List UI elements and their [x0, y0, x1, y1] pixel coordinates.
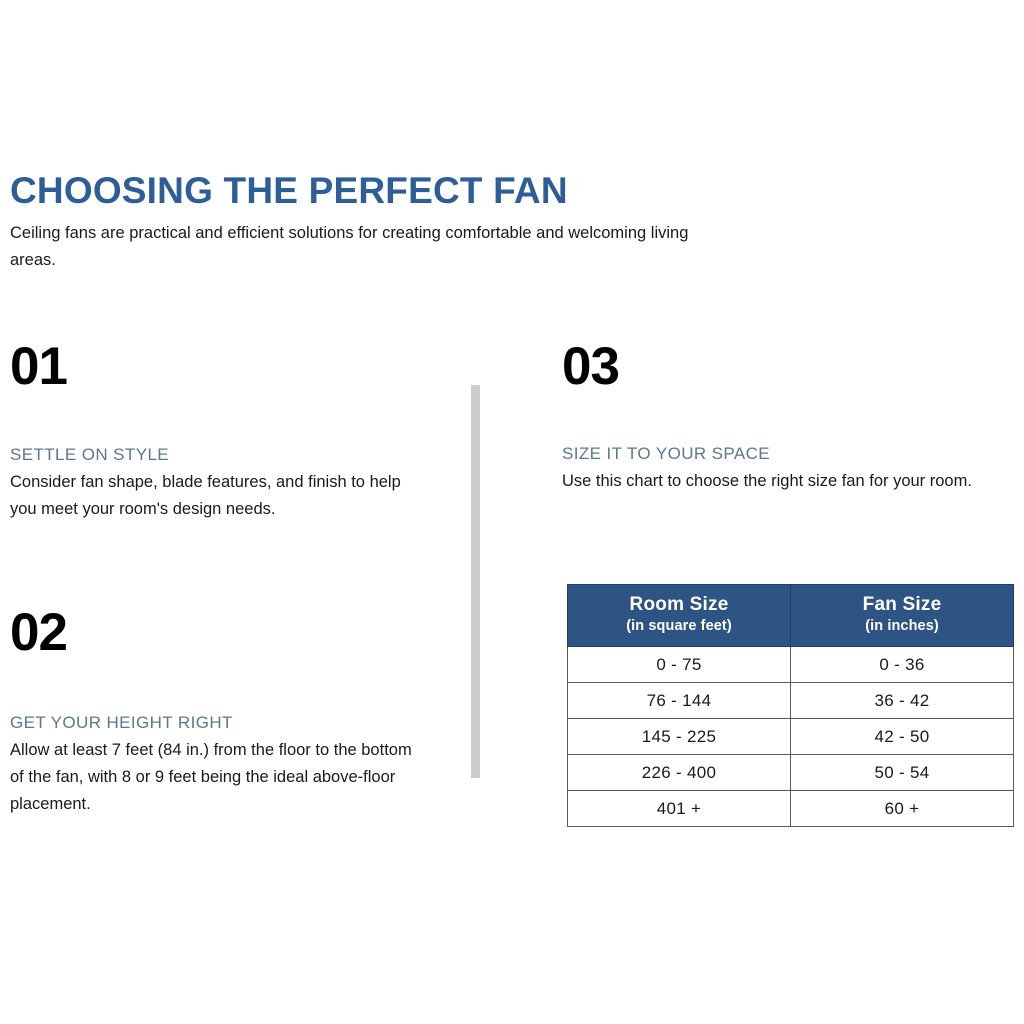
cell-room-size: 76 - 144	[568, 683, 791, 719]
cell-fan-size: 36 - 42	[791, 683, 1014, 719]
table-row: 401 + 60 +	[568, 791, 1014, 827]
cell-fan-size: 0 - 36	[791, 647, 1014, 683]
table-row: 145 - 225 42 - 50	[568, 719, 1014, 755]
step-heading-03: SIZE IT TO YOUR SPACE	[562, 444, 1017, 464]
header-block: CHOOSING THE PERFECT FAN Ceiling fans ar…	[10, 172, 710, 274]
table-body: 0 - 75 0 - 36 76 - 144 36 - 42 145 - 225…	[568, 647, 1014, 827]
cell-fan-size: 42 - 50	[791, 719, 1014, 755]
step-heading-01: SETTLE ON STYLE	[10, 445, 430, 465]
column-header-room-size: Room Size (in square feet)	[568, 585, 791, 647]
column-header-fan-size: Fan Size (in inches)	[791, 585, 1014, 647]
column-header-fan-size-unit: (in inches)	[793, 617, 1011, 636]
cell-fan-size: 60 +	[791, 791, 1014, 827]
cell-room-size: 145 - 225	[568, 719, 791, 755]
left-column: 01 SETTLE ON STYLE Consider fan shape, b…	[10, 341, 430, 818]
table-row: 76 - 144 36 - 42	[568, 683, 1014, 719]
step-number-01: 01	[10, 341, 430, 393]
table-row: 226 - 400 50 - 54	[568, 755, 1014, 791]
cell-fan-size: 50 - 54	[791, 755, 1014, 791]
table-header-row: Room Size (in square feet) Fan Size (in …	[568, 585, 1014, 647]
step-body-01: Consider fan shape, blade features, and …	[10, 469, 430, 523]
step-heading-02: GET YOUR HEIGHT RIGHT	[10, 713, 430, 733]
step-number-02: 02	[10, 607, 430, 659]
column-header-fan-size-main: Fan Size	[793, 593, 1011, 616]
step-block-02: 02 GET YOUR HEIGHT RIGHT Allow at least …	[10, 607, 430, 818]
page-title: CHOOSING THE PERFECT FAN	[10, 172, 710, 211]
fan-sizing-table: Room Size (in square feet) Fan Size (in …	[567, 584, 1014, 827]
infographic-canvas: CHOOSING THE PERFECT FAN Ceiling fans ar…	[0, 0, 1024, 1024]
cell-room-size: 401 +	[568, 791, 791, 827]
table-row: 0 - 75 0 - 36	[568, 647, 1014, 683]
column-header-room-size-main: Room Size	[570, 593, 788, 616]
right-column: 03 SIZE IT TO YOUR SPACE Use this chart …	[562, 341, 1017, 495]
column-header-room-size-unit: (in square feet)	[570, 617, 788, 636]
step-body-02: Allow at least 7 feet (84 in.) from the …	[10, 737, 430, 818]
page-subtitle: Ceiling fans are practical and efficient…	[10, 220, 700, 274]
step-body-03: Use this chart to choose the right size …	[562, 468, 1017, 495]
column-divider	[471, 385, 480, 778]
cell-room-size: 226 - 400	[568, 755, 791, 791]
step-number-03: 03	[562, 341, 1017, 393]
table-header: Room Size (in square feet) Fan Size (in …	[568, 585, 1014, 647]
cell-room-size: 0 - 75	[568, 647, 791, 683]
step-block-03: 03 SIZE IT TO YOUR SPACE Use this chart …	[562, 341, 1017, 495]
step-block-01: 01 SETTLE ON STYLE Consider fan shape, b…	[10, 341, 430, 523]
